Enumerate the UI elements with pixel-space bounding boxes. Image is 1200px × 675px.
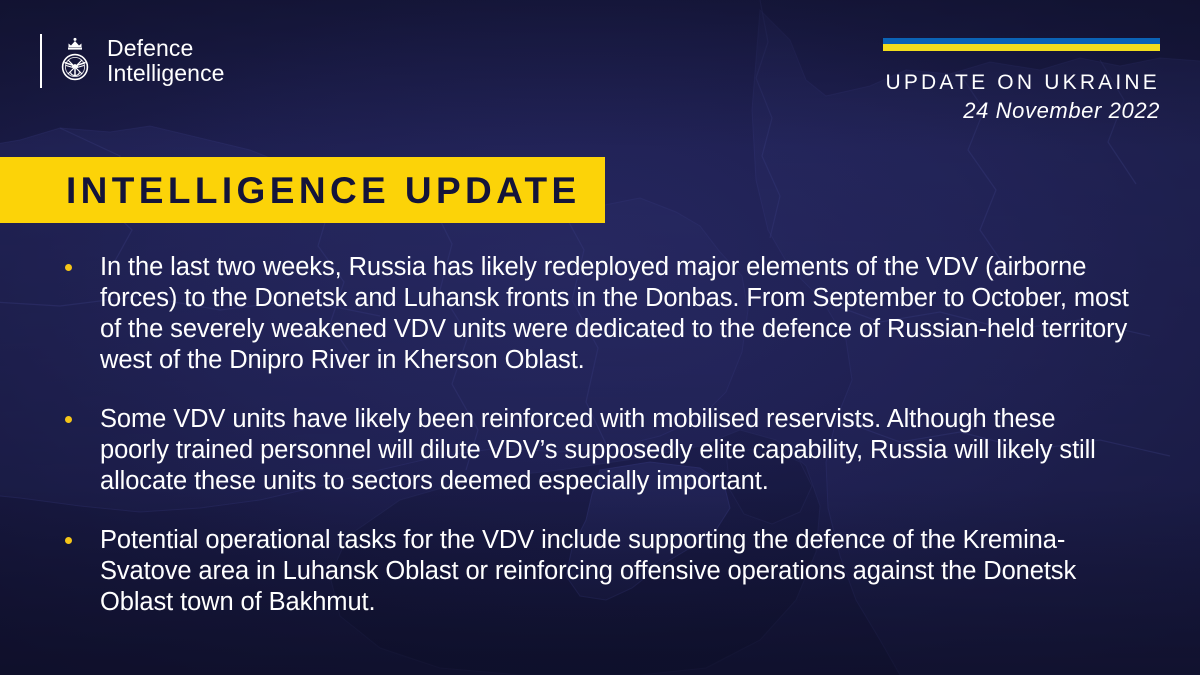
banner-title: INTELLIGENCE UPDATE	[66, 172, 581, 209]
ukraine-flag-bar-icon	[883, 38, 1160, 51]
list-item: In the last two weeks, Russia has likely…	[62, 252, 1130, 376]
update-heading-block: UPDATE ON UKRAINE 24 November 2022	[885, 70, 1160, 126]
update-label: UPDATE ON UKRAINE	[885, 70, 1160, 96]
intelligence-update-banner: INTELLIGENCE UPDATE	[0, 157, 605, 223]
bullet-dot-icon	[65, 264, 72, 271]
intelligence-update-slide: Defence Intelligence UPDATE ON UKRAINE 2…	[0, 0, 1200, 675]
brand-title: Defence Intelligence	[107, 36, 225, 86]
brand-line-1: Defence	[107, 36, 225, 61]
vertical-rule-icon	[40, 34, 42, 88]
list-item: Some VDV units have likely been reinforc…	[62, 404, 1130, 497]
bullet-text: In the last two weeks, Russia has likely…	[100, 252, 1130, 376]
defence-intelligence-brand: Defence Intelligence	[40, 34, 225, 88]
list-item: Potential operational tasks for the VDV …	[62, 525, 1130, 618]
brand-line-2: Intelligence	[107, 61, 225, 86]
mod-tri-service-crest-icon	[55, 34, 95, 88]
flag-yellow-stripe	[883, 44, 1160, 51]
update-date: 24 November 2022	[885, 96, 1160, 126]
bullet-text: Some VDV units have likely been reinforc…	[100, 404, 1130, 497]
bullet-dot-icon	[65, 416, 72, 423]
bullet-list: In the last two weeks, Russia has likely…	[62, 252, 1130, 618]
bullet-text: Potential operational tasks for the VDV …	[100, 525, 1130, 618]
bullet-dot-icon	[65, 537, 72, 544]
